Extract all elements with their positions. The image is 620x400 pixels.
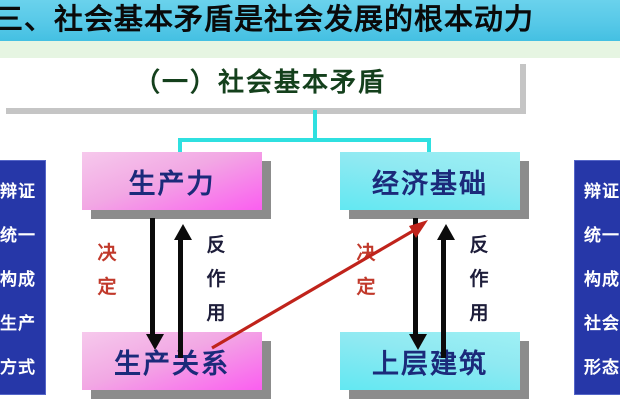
arrow-right-down-head [409, 334, 427, 350]
bracket-horizontal-bar [178, 138, 431, 142]
label-right-determine: 决 定 [355, 236, 377, 304]
label-left-determine-char-0: 决 [96, 236, 118, 270]
side-panel-right-row-2: 构成 [584, 265, 620, 290]
label-right-determine-char-1: 定 [355, 270, 377, 304]
side-panel-left-row-1: 统一 [0, 221, 36, 246]
red-arrow-shaft [212, 228, 418, 348]
arrow-right-up-head [437, 224, 455, 240]
bracket-stem [313, 110, 317, 141]
arrow-left-down-shaft [150, 218, 155, 338]
box-productive-forces-label: 生产力 [129, 162, 216, 201]
label-left-determine: 决 定 [96, 236, 118, 304]
label-right-determine-char-0: 决 [355, 236, 377, 270]
side-panel-left-row-0: 辩证 [0, 177, 36, 202]
red-arrow-head [409, 220, 428, 238]
label-right-reaction-char-1: 作 [468, 262, 490, 296]
side-panel-left: 辩证 统一 构成 生产 方式 [0, 160, 46, 395]
green-divider-band [0, 41, 620, 58]
arrow-right-down-shaft [413, 218, 418, 338]
box-economic-base-label: 经济基础 [372, 162, 488, 201]
label-right-reaction: 反 作 用 [468, 228, 490, 330]
section-heading-text: （一）社会基本矛盾 [0, 60, 520, 106]
box-economic-base[interactable]: 经济基础 [340, 152, 520, 210]
label-left-reaction-char-2: 用 [205, 296, 227, 330]
label-left-reaction-char-1: 作 [205, 262, 227, 296]
slide-canvas: 三、社会基本矛盾是社会发展的根本动力 （一）社会基本矛盾 生产力 经济基础 生产… [0, 0, 620, 400]
section-heading-card: （一）社会基本矛盾 [0, 58, 520, 108]
side-panel-right-row-1: 统一 [584, 221, 620, 246]
side-panel-right: 辩证 统一 构成 社会 形态 [574, 160, 620, 395]
slide-title: 三、社会基本矛盾是社会发展的根本动力 [0, 0, 534, 40]
box-production-relations[interactable]: 生产关系 [82, 332, 262, 390]
box-superstructure[interactable]: 上层建筑 [340, 332, 520, 390]
side-panel-left-row-4: 方式 [0, 353, 36, 378]
side-panel-right-row-3: 社会 [584, 309, 620, 334]
arrow-right-up-shaft [441, 238, 446, 358]
side-panel-left-row-3: 生产 [0, 309, 36, 334]
side-panel-left-row-2: 构成 [0, 265, 36, 290]
side-panel-right-row-0: 辩证 [584, 177, 620, 202]
box-productive-forces[interactable]: 生产力 [82, 152, 262, 210]
arrow-left-down-head [146, 334, 164, 350]
arrow-left-up-shaft [178, 238, 183, 358]
arrow-left-up-head [174, 224, 192, 240]
box-superstructure-label: 上层建筑 [372, 342, 488, 381]
box-production-relations-label: 生产关系 [114, 342, 230, 381]
label-right-reaction-char-0: 反 [468, 228, 490, 262]
label-right-reaction-char-2: 用 [468, 296, 490, 330]
slide-title-bar: 三、社会基本矛盾是社会发展的根本动力 [0, 0, 620, 41]
label-left-reaction-char-0: 反 [205, 228, 227, 262]
side-panel-right-row-4: 形态 [584, 353, 620, 378]
label-left-reaction: 反 作 用 [205, 228, 227, 330]
label-left-determine-char-1: 定 [96, 270, 118, 304]
